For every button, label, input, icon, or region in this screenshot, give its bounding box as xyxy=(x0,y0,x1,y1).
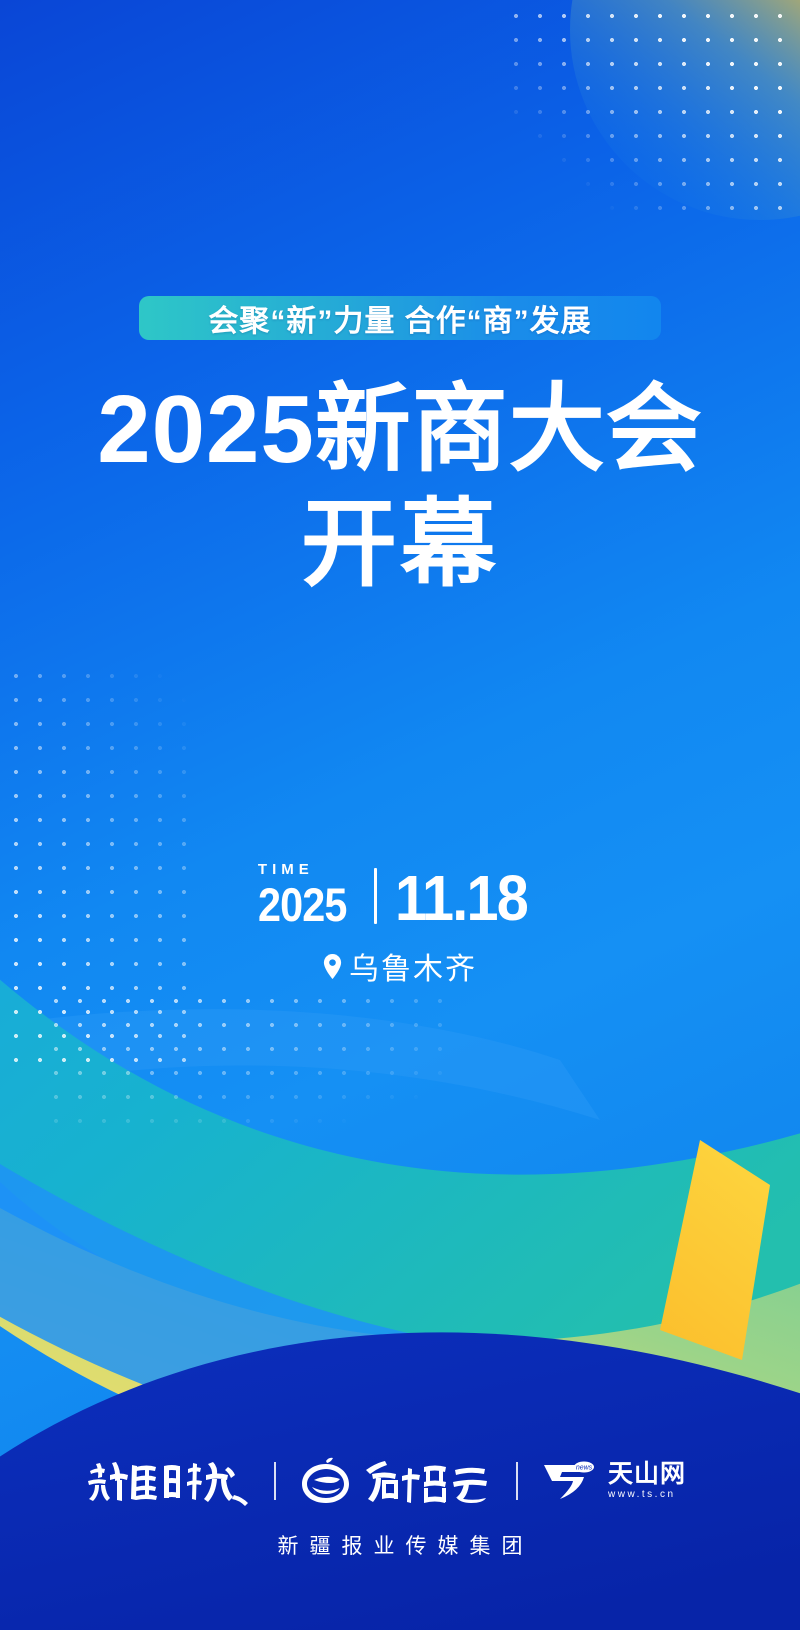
headline-line-2: 开幕 xyxy=(0,490,800,600)
subtitle-text: 会聚“新”力量 合作“商”发展 xyxy=(208,296,591,340)
event-location: 乌鲁木齐 xyxy=(0,944,800,988)
tianshan-name: 天山网 xyxy=(608,1461,686,1487)
tianshan-url: www.ts.cn xyxy=(608,1489,676,1501)
location-city: 乌鲁木齐 xyxy=(349,944,477,988)
logo-divider-1 xyxy=(274,1462,276,1500)
date-year-group: TIME 2025 xyxy=(258,862,375,926)
media-group-name: 新疆报业传媒集团 xyxy=(0,1530,800,1560)
date-divider xyxy=(374,868,377,924)
poster-root: 会聚“新”力量 合作“商”发展 2025新商大会 开幕 TIME 2025 11… xyxy=(0,0,800,1630)
event-date: TIME 2025 11.18 xyxy=(0,862,800,926)
page-title: 2025新商大会 开幕 xyxy=(0,376,800,600)
footer-logos: news 天山网 www.ts.cn 新疆报业传媒集团 xyxy=(0,1452,800,1560)
pomegranate-icon xyxy=(298,1456,354,1506)
svg-text:news: news xyxy=(576,1465,593,1472)
date-month-day: 11.18 xyxy=(395,871,527,926)
time-label: TIME xyxy=(258,862,314,877)
subtitle-banner: 会聚“新”力量 合作“商”发展 xyxy=(139,296,661,340)
tianshan-mark-icon: news xyxy=(540,1457,600,1505)
logo-divider-2 xyxy=(516,1462,518,1500)
logo-tianshan-net: news 天山网 www.ts.cn xyxy=(540,1455,716,1507)
logo-xinjiang-daily xyxy=(84,1455,252,1507)
logo-shiliuyun xyxy=(298,1455,494,1507)
background-decoration xyxy=(0,0,800,1630)
corner-circle xyxy=(570,0,800,220)
headline-line-1: 2025新商大会 xyxy=(0,376,800,484)
date-year: 2025 xyxy=(258,883,346,926)
logo-row: news 天山网 www.ts.cn xyxy=(0,1452,800,1510)
map-pin-icon xyxy=(323,954,342,979)
